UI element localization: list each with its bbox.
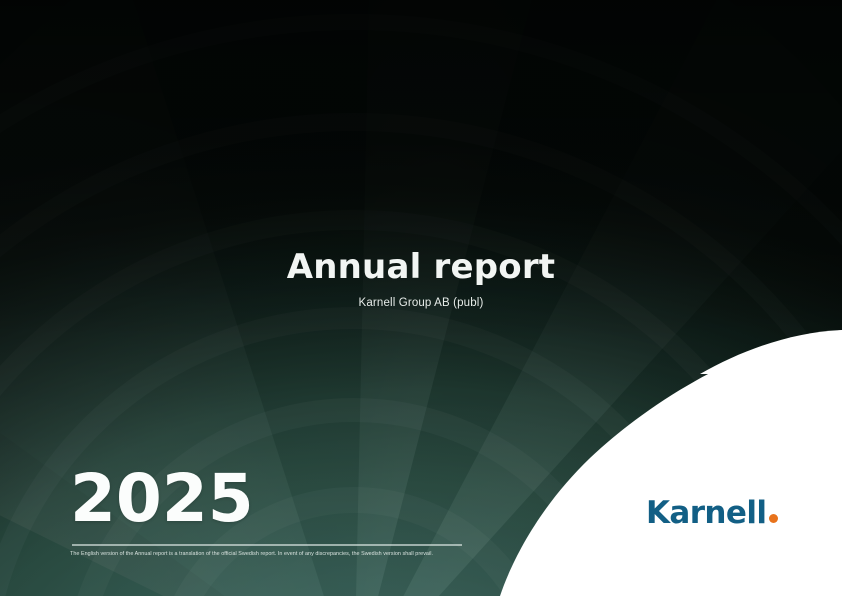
karnell-logo: Karnell [646,498,778,529]
page-subtitle: Karnell Group AB (publ) [0,297,842,309]
title-block: Annual report Karnell Group AB (publ) [0,250,842,309]
page-title: Annual report [0,250,842,284]
translation-disclaimer: The English version of the Annual report… [70,550,490,558]
logo-dot-icon [769,514,778,523]
divider-rule [72,544,462,546]
year-label: 2025 [70,466,254,532]
logo-wordmark: Karnell [646,498,766,529]
report-cover-page: Annual report Karnell Group AB (publ) 20… [0,0,842,596]
